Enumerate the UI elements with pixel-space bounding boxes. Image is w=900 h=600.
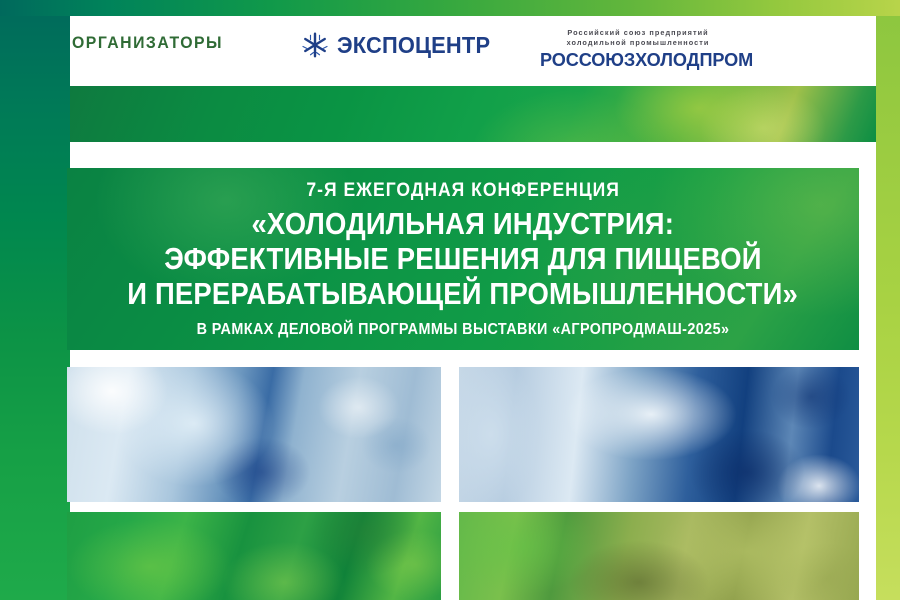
green-photo-right bbox=[459, 512, 859, 600]
green-photo-band bbox=[70, 86, 876, 142]
ice-photo-right-texture bbox=[459, 367, 859, 502]
left-gradient-border bbox=[0, 0, 70, 600]
right-gradient-border bbox=[876, 0, 900, 600]
green-photo-left-texture bbox=[67, 512, 441, 600]
organizers-label: ОРГАНИЗАТОРЫ bbox=[72, 33, 223, 53]
rossoyuz-wordmark: РОССОЮЗХОЛОДПРОМ bbox=[540, 49, 736, 71]
ice-photo-left-texture bbox=[67, 367, 441, 502]
expocentre-wordmark: ЭКСПОЦЕНТР bbox=[337, 32, 490, 59]
conference-subtitle: В РАМКАХ ДЕЛОВОЙ ПРОГРАММЫ ВЫСТАВКИ «АГР… bbox=[197, 320, 730, 340]
green-photo-right-texture bbox=[459, 512, 859, 600]
poster-header: ОРГАНИЗАТОРЫ ЭКСПОЦЕНТР bbox=[70, 16, 876, 78]
conference-title-panel: 7-Я ЕЖЕГОДНАЯ КОНФЕРЕНЦИЯ «ХОЛОДИЛЬНАЯ И… bbox=[67, 168, 859, 350]
poster-root: ОРГАНИЗАТОРЫ ЭКСПОЦЕНТР bbox=[0, 0, 900, 600]
conference-title-line-2: ЭФФЕКТИВНЫЕ РЕШЕНИЯ ДЛЯ ПИЩЕВОЙ bbox=[164, 242, 762, 277]
ice-photo-right bbox=[459, 367, 859, 502]
green-photo-band-texture bbox=[70, 86, 876, 142]
ice-photo-left bbox=[67, 367, 441, 502]
snowflake-asterisk-icon bbox=[300, 30, 330, 60]
expocentre-logo[interactable]: ЭКСПОЦЕНТР bbox=[300, 30, 498, 60]
rossoyuzkholodprom-logo[interactable]: Российский союз предприятий холодильной … bbox=[538, 28, 738, 71]
conference-kicker: 7-Я ЕЖЕГОДНАЯ КОНФЕРЕНЦИЯ bbox=[306, 178, 619, 202]
rossoyuz-tagline-line1: Российский союз предприятий bbox=[538, 28, 738, 38]
rossoyuz-tagline-line2: холодильной промышленности bbox=[538, 38, 738, 48]
conference-title-line-3: И ПЕРЕРАБАТЫВАЮЩЕЙ ПРОМЫШЛЕННОСТИ» bbox=[128, 277, 799, 312]
conference-title-text: 7-Я ЕЖЕГОДНАЯ КОНФЕРЕНЦИЯ «ХОЛОДИЛЬНАЯ И… bbox=[67, 168, 859, 350]
green-photo-left bbox=[67, 512, 441, 600]
conference-title-line-1: «ХОЛОДИЛЬНАЯ ИНДУСТРИЯ: bbox=[252, 207, 675, 242]
top-gradient-border bbox=[0, 0, 900, 16]
